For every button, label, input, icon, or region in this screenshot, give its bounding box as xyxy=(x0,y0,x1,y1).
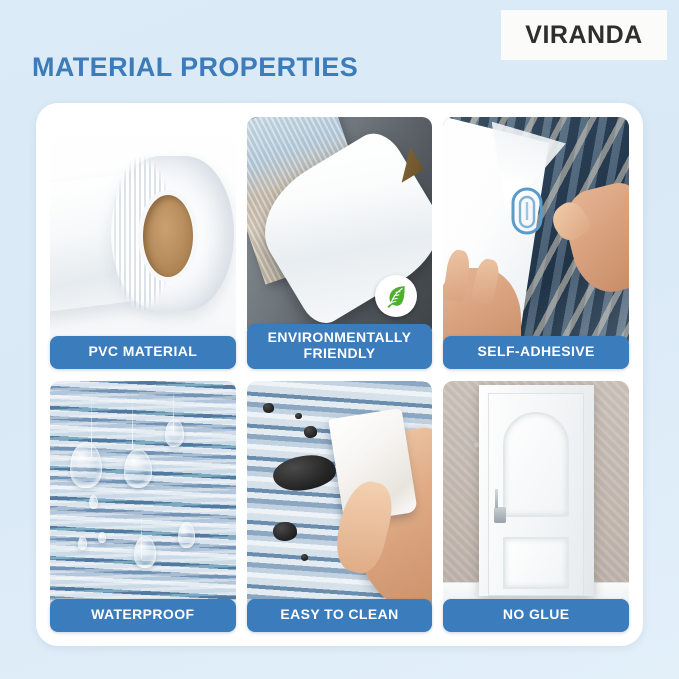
feature-label-environmentally-friendly: ENVIRONMENTALLY FRIENDLY xyxy=(247,324,433,368)
ng-door-panel-top xyxy=(503,412,569,516)
wp-droplet-4 xyxy=(134,536,156,568)
waterproof-photo xyxy=(50,381,236,610)
feature-label-no-glue: NO GLUE xyxy=(443,599,629,632)
ng-door-panel-bottom xyxy=(503,537,569,589)
feature-cell-easy-to-clean: EASY TO CLEAN xyxy=(247,381,433,633)
wp-droplet-5 xyxy=(178,522,195,547)
wp-droplet-1 xyxy=(70,442,102,488)
easy-to-clean-photo xyxy=(247,381,433,610)
brand-name: VIRANDA xyxy=(525,21,642,50)
ng-door-frame xyxy=(479,385,594,596)
feature-label-line-2: FRIENDLY xyxy=(251,346,429,362)
wp-wood-overlay xyxy=(50,381,236,610)
feature-cell-waterproof: WATERPROOF xyxy=(50,381,236,633)
self-adhesive-photo xyxy=(443,117,629,346)
pvc-cardboard-core xyxy=(143,195,193,277)
environmentally-friendly-photo xyxy=(247,117,433,334)
feature-label-self-adhesive: SELF-ADHESIVE xyxy=(443,336,629,369)
leaf-icon xyxy=(383,283,409,309)
wp-droplet-6 xyxy=(78,536,87,550)
feature-cell-pvc-material: PVC MATERIAL xyxy=(50,117,236,369)
feature-card: PVC MATERIAL ENVIRONME xyxy=(36,103,643,646)
pvc-roll-photo xyxy=(50,117,236,346)
feature-label-line-1: ENVIRONMENTALLY xyxy=(251,330,429,346)
wp-trail-2 xyxy=(132,390,133,449)
paperclip-icon xyxy=(510,186,544,236)
leaf-badge xyxy=(375,275,417,317)
wp-droplet-3 xyxy=(165,419,184,446)
ec-stain-small-4 xyxy=(301,554,308,561)
ec-stain-medium xyxy=(273,522,297,540)
wp-droplet-8 xyxy=(89,495,98,509)
ng-door-handle xyxy=(494,507,506,523)
wp-droplet-7 xyxy=(98,532,105,543)
feature-label-pvc-material: PVC MATERIAL xyxy=(50,336,236,369)
feature-cell-self-adhesive: SELF-ADHESIVE xyxy=(443,117,629,369)
ec-stain-small-1 xyxy=(304,426,317,437)
brand-logo: VIRANDA xyxy=(501,10,667,60)
feature-cell-no-glue: NO GLUE xyxy=(443,381,629,633)
page-title: MATERIAL PROPERTIES xyxy=(32,52,358,83)
feature-grid: PVC MATERIAL ENVIRONME xyxy=(50,117,629,632)
feature-label-easy-to-clean: EASY TO CLEAN xyxy=(247,599,433,632)
no-glue-photo xyxy=(443,381,629,610)
ec-stain-small-2 xyxy=(263,403,274,412)
wp-droplet-2 xyxy=(124,449,152,488)
feature-label-waterproof: WATERPROOF xyxy=(50,599,236,632)
feature-cell-environmentally-friendly: ENVIRONMENTALLY FRIENDLY xyxy=(247,117,433,369)
ng-door xyxy=(488,393,585,595)
